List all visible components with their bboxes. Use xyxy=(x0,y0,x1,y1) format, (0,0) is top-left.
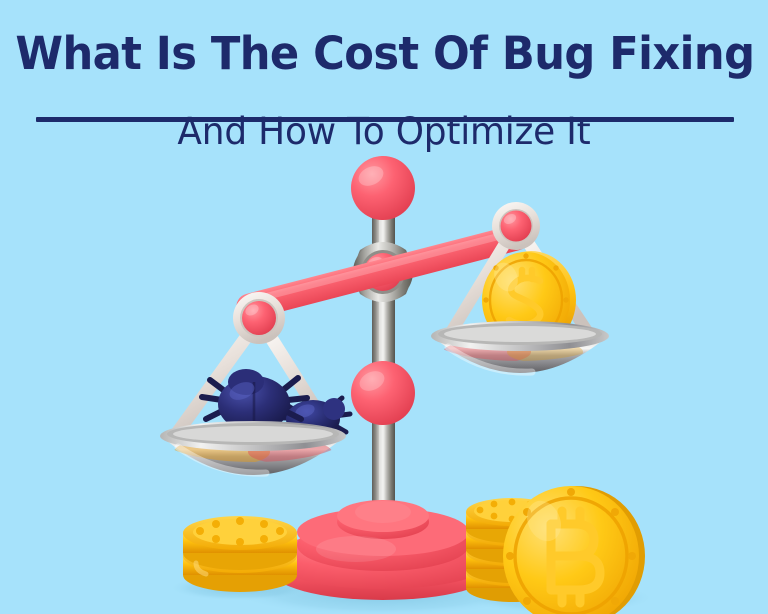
left-pan xyxy=(160,421,346,475)
coin-stack-left xyxy=(183,516,297,592)
left-hanger-sphere xyxy=(242,301,276,335)
right-hanger-sphere xyxy=(501,211,532,242)
page-title: What Is The Cost Of Bug Fixing xyxy=(15,26,754,82)
left-pan-assembly xyxy=(160,292,350,475)
right-pan-assembly xyxy=(431,202,609,373)
lower-sphere xyxy=(351,361,415,425)
balance-scale-illustration xyxy=(0,0,768,614)
top-finial-sphere xyxy=(351,156,415,220)
heading-block: What Is The Cost Of Bug Fixing And How T… xyxy=(0,26,768,82)
scale-base xyxy=(271,500,495,600)
right-pan xyxy=(431,321,609,373)
poster-canvas: What Is The Cost Of Bug Fixing And How T… xyxy=(0,0,768,614)
page-subtitle: And How To Optimize It xyxy=(12,108,757,156)
bitcoin-coin xyxy=(503,486,645,614)
